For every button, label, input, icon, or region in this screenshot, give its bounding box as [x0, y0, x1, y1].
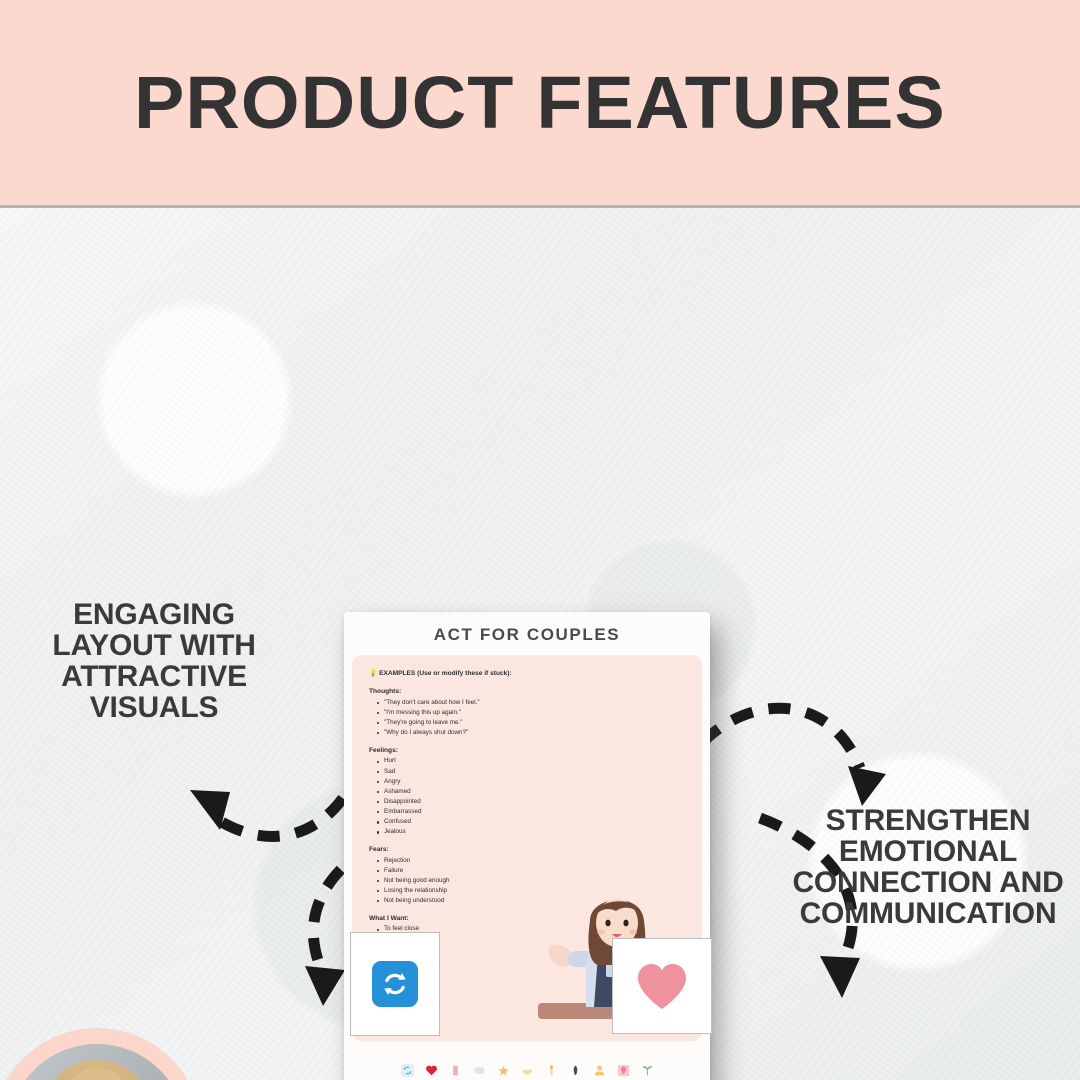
sync-icon[interactable] [372, 961, 418, 1007]
smiling-woman-portrait [8, 1044, 186, 1080]
section-label-what-i-want: What I Want: [369, 914, 559, 923]
header-banner: PRODUCT FEATURES [0, 0, 1080, 205]
heart-icon[interactable] [425, 1064, 438, 1077]
list-item: Disappointed [376, 798, 559, 807]
content-canvas: ENGAGING LAYOUT WITH ATTRACTIVE VISUALS … [0, 208, 1080, 1080]
list-item: Rejection [376, 857, 559, 866]
plant-icon[interactable] [641, 1064, 654, 1077]
section-label-thoughts: Thoughts: [369, 687, 559, 696]
list-item: Not being understood [376, 897, 559, 906]
list-item: Angry [376, 778, 559, 787]
examples-heading: 💡 EXAMPLES (Use or modify these if stuck… [369, 669, 559, 678]
list-item: "I'm messing this up again." [376, 709, 559, 718]
heart-icon[interactable] [635, 961, 689, 1011]
document-heading: ACT FOR COUPLES [344, 612, 710, 655]
sync-arrows-glyph [380, 969, 410, 999]
candle-icon[interactable] [545, 1064, 558, 1077]
document-icon-strip[interactable] [344, 1056, 710, 1080]
list-item: Hurt [376, 757, 559, 766]
section-label-feelings: Feelings: [369, 746, 559, 755]
list-item: "Why do I always shut down?" [376, 729, 559, 738]
pin-icon[interactable] [617, 1064, 630, 1077]
book-icon[interactable] [449, 1064, 462, 1077]
callout-strengthen-connection: STRENGTHEN EMOTIONAL CONNECTION AND COMM… [770, 806, 1080, 930]
avatar [8, 1044, 186, 1080]
callout-engaging-layout: ENGAGING LAYOUT WITH ATTRACTIVE VISUALS [24, 600, 284, 724]
list-item: Sad [376, 768, 559, 777]
list-item: Jealous [376, 828, 559, 837]
page-title: PRODUCT FEATURES [134, 66, 946, 140]
bowl-icon[interactable] [521, 1064, 534, 1077]
presenter-avatar[interactable] [0, 1028, 202, 1080]
list-feelings: Hurt Sad Angry Ashamed Disappointed Emba… [376, 757, 559, 837]
star-icon[interactable] [497, 1064, 510, 1077]
list-item: Losing the relationship [376, 887, 559, 896]
list-item: Failure [376, 867, 559, 876]
section-label-fears: Fears: [369, 845, 559, 854]
list-item: Ashamed [376, 788, 559, 797]
list-fears: Rejection Failure Not being good enough … [376, 857, 559, 906]
lightbulb-icon: 💡 [369, 670, 377, 677]
list-item: "They're going to leave me." [376, 719, 559, 728]
heart-callout-box[interactable] [612, 938, 712, 1034]
sync-icon[interactable] [401, 1064, 414, 1077]
list-item: Confused [376, 818, 559, 827]
list-item: Embarrassed [376, 808, 559, 817]
ribbon-icon[interactable] [569, 1064, 582, 1077]
list-item: "They don't care about how I feel." [376, 699, 559, 708]
speech-bubble-icon[interactable] [473, 1064, 486, 1077]
list-thoughts: "They don't care about how I feel." "I'm… [376, 699, 559, 738]
list-item: Not being good enough [376, 877, 559, 886]
sync-callout-box[interactable] [350, 932, 440, 1036]
people-icon[interactable] [593, 1064, 606, 1077]
